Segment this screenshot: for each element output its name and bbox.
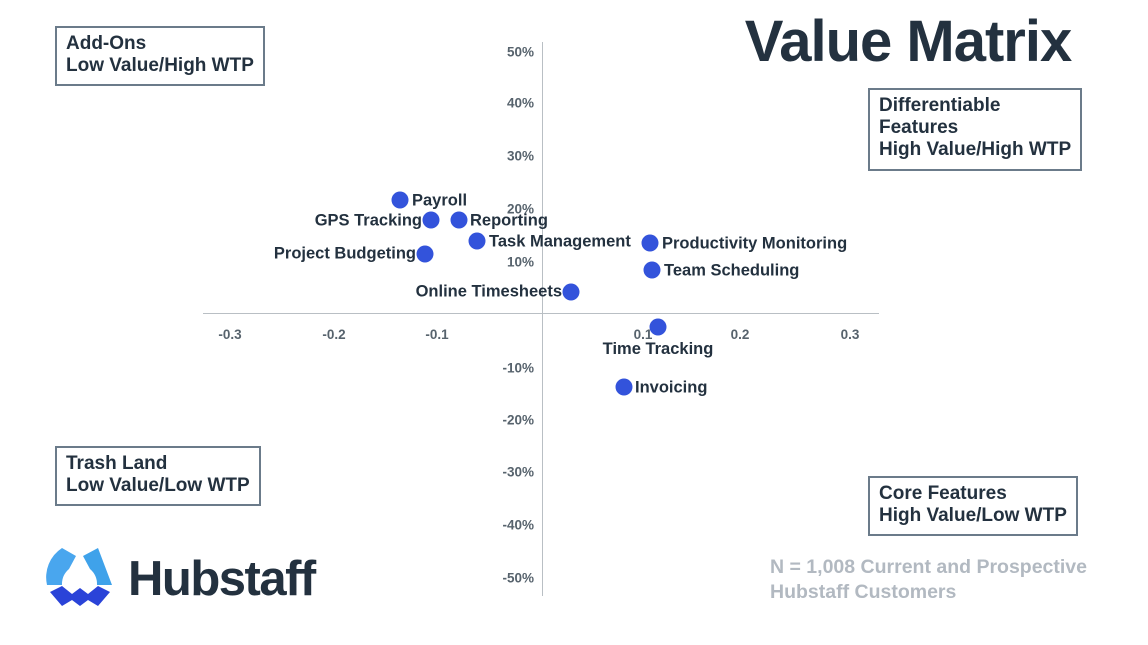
data-point[interactable] [451,212,468,229]
y-axis-tick-label: -20% [502,413,534,428]
value-matrix-chart: Value Matrix Add-Ons Low Value/High WTP … [0,0,1148,645]
y-axis-tick-label: -50% [502,571,534,586]
data-point-label: GPS Tracking [315,212,422,231]
data-point-label: Team Scheduling [664,262,799,281]
y-axis-tick-label: 30% [507,149,534,164]
data-point[interactable] [417,246,434,263]
y-axis-tick-label: 10% [507,255,534,270]
data-point-label: Task Management [489,233,631,252]
quadrant-label-differentiable-features: Differentiable Features High Value/High … [868,88,1082,171]
y-axis-line [542,42,543,596]
data-point[interactable] [644,262,661,279]
sample-size-note: N = 1,008 Current and Prospective Hubsta… [770,555,1110,606]
x-axis-tick-label: 0.2 [731,327,750,342]
data-point[interactable] [392,192,409,209]
data-point-label: Online Timesheets [416,283,562,302]
y-axis-tick-label: 40% [507,96,534,111]
x-axis-tick-label: -0.2 [322,327,345,342]
quadrant-label-trash-land: Trash Land Low Value/Low WTP [55,446,261,506]
data-point[interactable] [650,319,667,336]
data-point[interactable] [563,284,580,301]
page-title: Value Matrix [718,12,1098,73]
x-axis-tick-label: -0.3 [218,327,241,342]
data-point-label: Productivity Monitoring [662,235,847,254]
data-point[interactable] [642,235,659,252]
y-axis-tick-label: 50% [507,45,534,60]
x-axis-tick-label: 0.3 [841,327,860,342]
x-axis-line [203,313,879,314]
y-axis-tick-label: -10% [502,361,534,376]
quadrant-label-add-ons: Add-Ons Low Value/High WTP [55,26,265,86]
data-point-label: Project Budgeting [274,245,416,264]
brand-logo: Hubstaff [42,542,315,617]
data-point-label: Reporting [470,212,548,231]
data-point[interactable] [469,233,486,250]
data-point[interactable] [616,379,633,396]
x-axis-tick-label: -0.1 [425,327,448,342]
hubstaff-logo-icon [42,542,118,617]
data-point-label: Time Tracking [603,340,714,359]
y-axis-tick-label: -40% [502,518,534,533]
brand-name: Hubstaff [128,555,315,604]
data-point-label: Payroll [412,192,467,211]
y-axis-tick-label: -30% [502,465,534,480]
quadrant-label-core-features: Core Features High Value/Low WTP [868,476,1078,536]
data-point[interactable] [423,212,440,229]
data-point-label: Invoicing [635,379,707,398]
